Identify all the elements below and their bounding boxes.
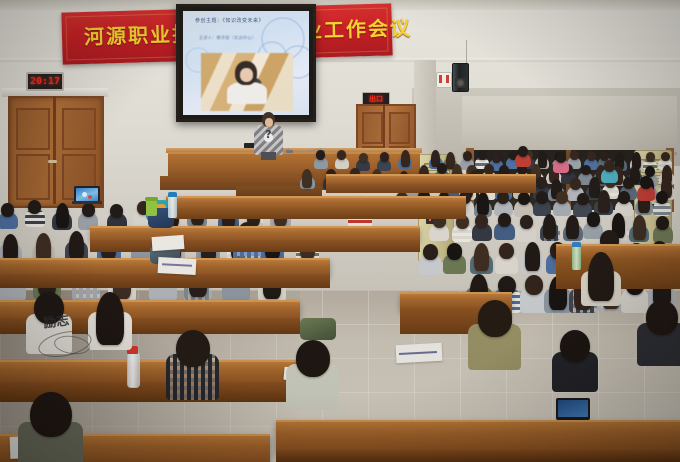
person-head xyxy=(543,214,556,239)
door-panel xyxy=(389,112,410,144)
microphone-base xyxy=(286,150,293,153)
person-head xyxy=(82,203,95,217)
laptop-screen-graphic xyxy=(88,195,92,199)
person-head xyxy=(110,204,123,218)
person-head xyxy=(56,203,69,228)
bottle-cap xyxy=(572,242,581,247)
window-blind xyxy=(462,96,677,156)
laptop-screen xyxy=(76,188,98,201)
banner-text-right: 业工作会议 xyxy=(301,12,412,44)
person-head xyxy=(520,215,533,229)
person-head xyxy=(518,146,528,157)
person-head xyxy=(604,160,615,172)
person-head xyxy=(28,200,41,214)
projection-screen: 参创主题：《知识改变未来》 主讲人：教学部（实训中心） xyxy=(176,4,316,122)
person-head xyxy=(560,330,590,362)
person-head xyxy=(478,300,512,337)
person-head xyxy=(556,152,566,163)
person-head xyxy=(30,392,72,437)
person-head xyxy=(536,177,547,189)
desk-foreground-right-front xyxy=(276,450,680,462)
person-head xyxy=(566,215,579,240)
person-head xyxy=(577,193,589,206)
person-head xyxy=(656,216,669,230)
lecture-hall-photo: 河源职业技 业工作会议 参创主题：《知识改变未来》 主讲人：教学部（实训中心） … xyxy=(0,0,680,462)
laptop-base xyxy=(72,201,102,204)
slide-photo-person-face xyxy=(240,68,253,82)
person-head xyxy=(484,164,494,175)
person-head xyxy=(536,191,548,204)
person-head xyxy=(423,244,438,260)
person-head xyxy=(525,242,540,271)
person-head xyxy=(640,176,652,189)
desk-foreground-right xyxy=(276,420,680,452)
person-head xyxy=(618,191,630,204)
water-bottle-red-cap xyxy=(127,352,140,388)
desk-row-front xyxy=(326,184,536,193)
cup-lid xyxy=(145,197,158,201)
backpack xyxy=(300,318,336,340)
person-head xyxy=(478,151,487,161)
slide-photo-person-body xyxy=(227,82,267,104)
person-head xyxy=(588,252,614,301)
presenter-legs xyxy=(261,152,276,160)
person-head xyxy=(499,243,514,259)
person-head xyxy=(633,215,646,240)
person-head xyxy=(525,275,543,294)
person-head xyxy=(477,192,489,215)
person-head xyxy=(475,214,488,228)
presentation-slide: 参创主题：《知识改变未来》 主讲人：教学部（实训中心） xyxy=(183,11,309,115)
person-head xyxy=(492,153,501,163)
person-head xyxy=(176,330,210,367)
person-head xyxy=(359,153,368,163)
slide-subtitle: 主讲人：教学部（实训中心） xyxy=(199,35,256,41)
desk-row-front xyxy=(0,274,330,288)
person-head xyxy=(587,151,596,161)
green-cup xyxy=(146,200,157,216)
paper-sheet xyxy=(152,235,185,251)
person-head xyxy=(463,151,472,161)
person-head xyxy=(1,203,14,217)
person-head xyxy=(498,213,511,227)
desk-row-front xyxy=(90,240,420,252)
door-panel xyxy=(62,108,96,150)
person-head xyxy=(623,177,634,189)
person-head xyxy=(401,150,410,167)
person-head xyxy=(69,231,84,260)
led-clock-display: 20:17 xyxy=(26,72,64,91)
person-head xyxy=(296,340,330,377)
person-head xyxy=(570,150,579,160)
wall-speaker xyxy=(452,63,469,92)
person-head xyxy=(661,152,670,162)
person-head xyxy=(316,150,325,160)
door-split-left xyxy=(53,96,56,204)
person-head xyxy=(437,163,447,174)
person-head xyxy=(96,292,124,345)
desk-row-front xyxy=(166,208,466,219)
desk-row xyxy=(0,360,300,384)
person-head xyxy=(598,190,610,213)
person-head xyxy=(587,212,600,226)
person-head xyxy=(646,300,678,335)
laptop-screen-graphic xyxy=(82,192,87,197)
person-head xyxy=(646,152,655,162)
slide-title: 参创主题：《知识改变未来》 xyxy=(195,17,301,24)
person-head xyxy=(302,169,312,188)
person-head xyxy=(474,243,489,272)
door-handle-left[interactable] xyxy=(48,160,57,163)
bottle-cap xyxy=(168,192,177,197)
water-bottle-blue-cap xyxy=(168,196,177,218)
door-panel xyxy=(16,108,50,150)
presenter-face xyxy=(265,118,273,127)
led-exit-value: 出口 xyxy=(369,94,383,104)
person-head xyxy=(447,243,462,259)
laptop-right-screen xyxy=(558,400,588,417)
led-clock-value: 20:17 xyxy=(30,76,60,87)
door-panel xyxy=(16,154,50,200)
person-head xyxy=(518,192,530,205)
speaker-bracket xyxy=(436,72,452,88)
presenter-shirt-graphic: ? xyxy=(264,129,273,141)
person-head xyxy=(337,150,346,160)
person-head xyxy=(581,165,591,176)
water-bottle-green xyxy=(572,246,581,270)
person-head xyxy=(380,152,389,162)
person-head xyxy=(570,178,581,190)
door-panel xyxy=(362,112,383,144)
